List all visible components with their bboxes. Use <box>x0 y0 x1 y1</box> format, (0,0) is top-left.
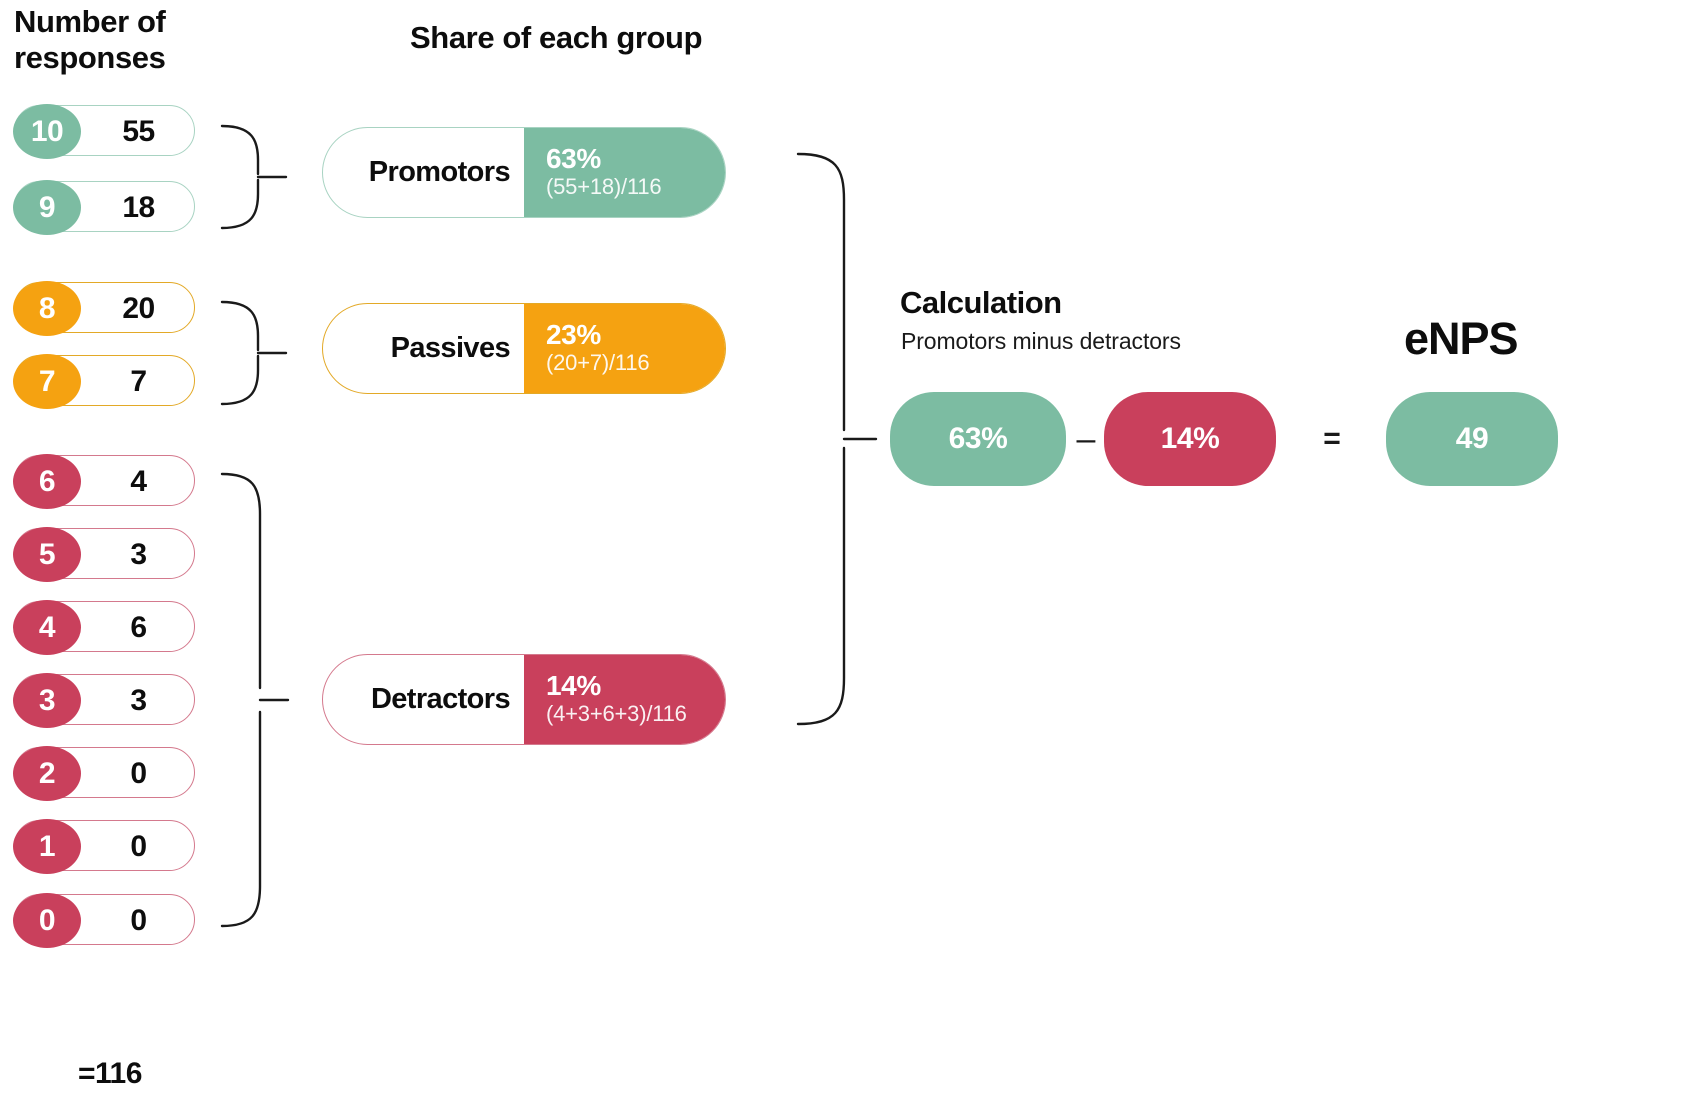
response-count: 0 <box>82 820 195 873</box>
response-row-8: 8 20 <box>14 282 197 335</box>
group-value: 63% (55+18)/116 <box>524 127 725 218</box>
enps-result-pill: 49 <box>1386 392 1558 486</box>
score-badge: 3 <box>13 673 81 728</box>
score-badge: 5 <box>13 527 81 582</box>
enps-title: eNPS <box>1404 313 1518 365</box>
response-count: 20 <box>82 282 195 335</box>
bracket-promotors <box>218 122 290 232</box>
response-row-6: 6 4 <box>14 455 197 508</box>
calculation-subtitle: Promotors minus detractors <box>901 328 1181 355</box>
enps-diagram: Number of responses Share of each group … <box>0 0 1703 1113</box>
response-row-9: 9 18 <box>14 181 197 234</box>
response-row-3: 3 3 <box>14 674 197 727</box>
score-badge: 9 <box>13 180 81 235</box>
share-bar-detractors: Detractors 14% (4+3+6+3)/116 <box>322 654 726 745</box>
response-count: 3 <box>82 528 195 581</box>
score-badge: 10 <box>13 104 81 159</box>
bracket-detractors <box>218 470 290 930</box>
calc-detractors-pill: 14% <box>1104 392 1276 486</box>
response-row-4: 4 6 <box>14 601 197 654</box>
response-row-5: 5 3 <box>14 528 197 581</box>
response-count: 3 <box>82 674 195 727</box>
group-label: Detractors <box>323 655 524 744</box>
minus-operator: – <box>1068 392 1104 486</box>
response-count: 6 <box>82 601 195 654</box>
group-value: 23% (20+7)/116 <box>524 303 725 394</box>
group-label: Passives <box>323 304 524 393</box>
bracket-calculation <box>792 148 880 730</box>
group-percent: 23% <box>546 320 725 349</box>
share-column-heading: Share of each group <box>410 20 840 56</box>
response-count: 55 <box>82 105 195 158</box>
group-formula: (20+7)/116 <box>546 349 725 377</box>
response-count: 0 <box>82 894 195 947</box>
score-badge: 7 <box>13 354 81 409</box>
equals-operator: = <box>1312 392 1352 486</box>
score-badge: 1 <box>13 819 81 874</box>
calculation-title: Calculation <box>900 285 1062 321</box>
share-bar-passives: Passives 23% (20+7)/116 <box>322 303 726 394</box>
score-badge: 6 <box>13 454 81 509</box>
share-bar-promotors: Promotors 63% (55+18)/116 <box>322 127 726 218</box>
score-badge: 2 <box>13 746 81 801</box>
response-row-1: 1 0 <box>14 820 197 873</box>
score-badge: 0 <box>13 893 81 948</box>
response-row-2: 2 0 <box>14 747 197 800</box>
response-row-10: 10 55 <box>14 105 197 158</box>
score-badge: 4 <box>13 600 81 655</box>
response-count: 0 <box>82 747 195 800</box>
calc-promotors-pill: 63% <box>890 392 1066 486</box>
response-count: 4 <box>82 455 195 508</box>
responses-column-heading: Number of responses <box>14 4 254 76</box>
group-label: Promotors <box>323 128 524 217</box>
group-formula: (4+3+6+3)/116 <box>546 700 725 728</box>
group-percent: 63% <box>546 144 725 173</box>
response-row-7: 7 7 <box>14 355 197 408</box>
score-badge: 8 <box>13 281 81 336</box>
response-row-0: 0 0 <box>14 894 197 947</box>
response-count: 18 <box>82 181 195 234</box>
response-count: 7 <box>82 355 195 408</box>
group-percent: 14% <box>546 671 725 700</box>
bracket-passives <box>218 298 290 408</box>
group-value: 14% (4+3+6+3)/116 <box>524 654 725 745</box>
group-formula: (55+18)/116 <box>546 173 725 201</box>
total-responses-label: =116 <box>78 1057 142 1091</box>
